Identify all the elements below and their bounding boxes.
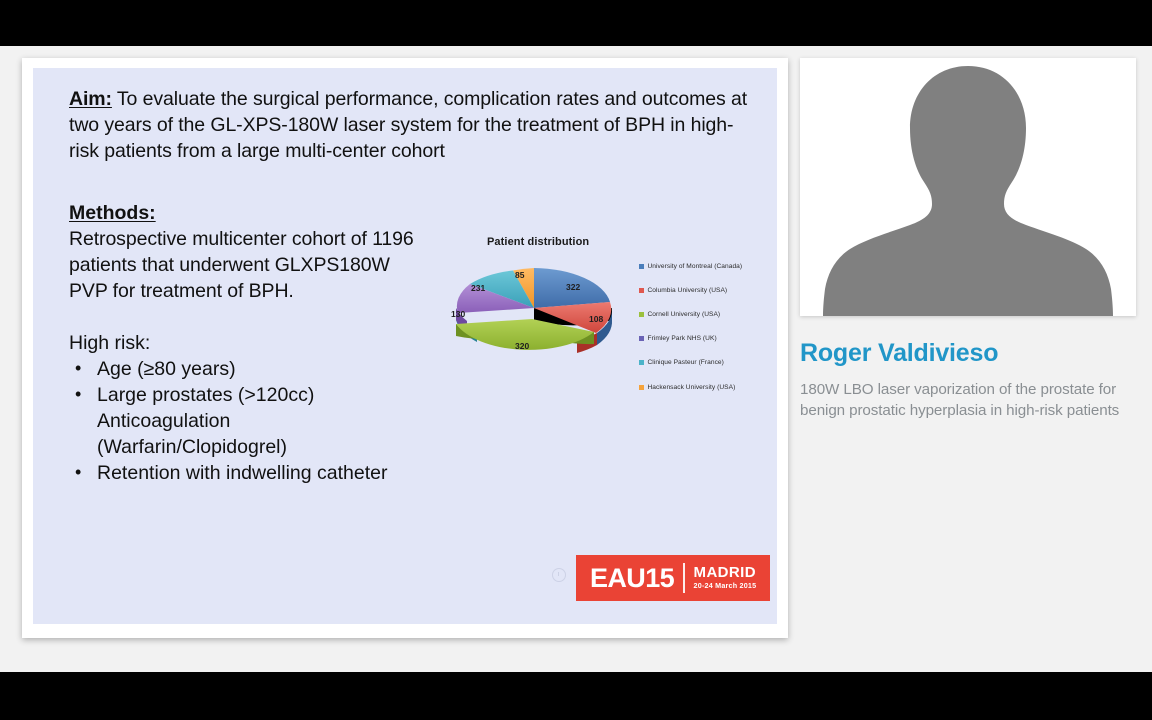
pie-value-label: 108 [589, 314, 603, 324]
legend-swatch-icon [639, 360, 644, 365]
eau-logo-city: MADRID [694, 565, 757, 581]
legend-label: Columbia University (USA) [648, 287, 728, 294]
legend-swatch-icon [639, 264, 644, 269]
slide-card[interactable]: Aim: To evaluate the surgical performanc… [22, 58, 788, 638]
legend-item: University of Montreal (Canada) [639, 254, 771, 278]
legend-label: Cornell University (USA) [648, 311, 721, 318]
legend-swatch-icon [639, 385, 644, 390]
list-item: Large prostates (>120cc) [69, 382, 469, 408]
speaker-panel: Roger Valdivieso 180W LBO laser vaporiza… [800, 58, 1136, 638]
speaker-avatar-card [800, 58, 1136, 316]
speaker-name: Roger Valdivieso [800, 340, 1136, 368]
legend-label: University of Montreal (Canada) [648, 263, 743, 270]
letterbox-top-bar [0, 0, 1152, 46]
legend-label: Hackensack University (USA) [648, 384, 736, 391]
eau-logo-right-block: MADRID 20-24 March 2015 [694, 565, 757, 590]
list-item: Retention with indwelling catheter [69, 460, 469, 486]
clock-watermark-icon [552, 568, 566, 582]
letterbox-bottom-bar [0, 672, 1152, 720]
eau-logo-dates: 20-24 March 2015 [694, 581, 757, 590]
pie-value-label: 85 [515, 270, 524, 280]
aim-label: Aim: [69, 88, 112, 110]
legend-swatch-icon [639, 288, 644, 293]
legend-item: Clinique Pasteur (France) [639, 351, 771, 375]
legend-item: Frimley Park NHS (UK) [639, 327, 771, 351]
high-risk-bullet-list: Age (≥80 years) Large prostates (>120cc)… [69, 356, 469, 486]
list-item: Anticoagulation [69, 408, 469, 434]
pie-value-label: 231 [471, 283, 485, 293]
legend-item: Cornell University (USA) [639, 302, 771, 326]
logo-divider [683, 563, 685, 593]
speaker-presentation-title: 180W LBO laser vaporization of the prost… [800, 379, 1130, 422]
eau-congress-logo: EAU15 MADRID 20-24 March 2015 [576, 555, 770, 601]
pie-value-label: 322 [566, 282, 580, 292]
aim-text: To evaluate the surgical performance, co… [69, 88, 747, 162]
legend-item: Columbia University (USA) [639, 278, 771, 302]
person-silhouette-icon [800, 58, 1136, 316]
methods-text: Retrospective multicenter cohort of 1196… [69, 226, 419, 304]
legend-swatch-icon [639, 336, 644, 341]
video-player-viewport: Aim: To evaluate the surgical performanc… [0, 0, 1152, 720]
eau-logo-main-text: EAU15 [590, 565, 674, 592]
slide-content-area: Aim: To evaluate the surgical performanc… [33, 68, 777, 624]
chart-title: Patient distribution [487, 236, 589, 248]
legend-label: Frimley Park NHS (UK) [648, 335, 717, 342]
pie-graphic: 322 108 320 130 231 85 [437, 252, 631, 384]
legend-swatch-icon [639, 312, 644, 317]
legend-label: Clinique Pasteur (France) [648, 359, 724, 366]
list-item: Age (≥80 years) [69, 356, 469, 382]
methods-label: Methods: [69, 200, 759, 226]
presentation-stage: Aim: To evaluate the surgical performanc… [0, 46, 1152, 672]
pie-value-label: 130 [451, 309, 465, 319]
chart-legend: University of Montreal (Canada) Columbia… [639, 254, 771, 399]
list-item: (Warfarin/Clopidogrel) [69, 434, 469, 460]
pie-value-label: 320 [515, 341, 529, 351]
legend-item: Hackensack University (USA) [639, 375, 771, 399]
patient-distribution-chart: Patient distribution [437, 236, 767, 396]
aim-paragraph: Aim: To evaluate the surgical performanc… [69, 86, 759, 164]
